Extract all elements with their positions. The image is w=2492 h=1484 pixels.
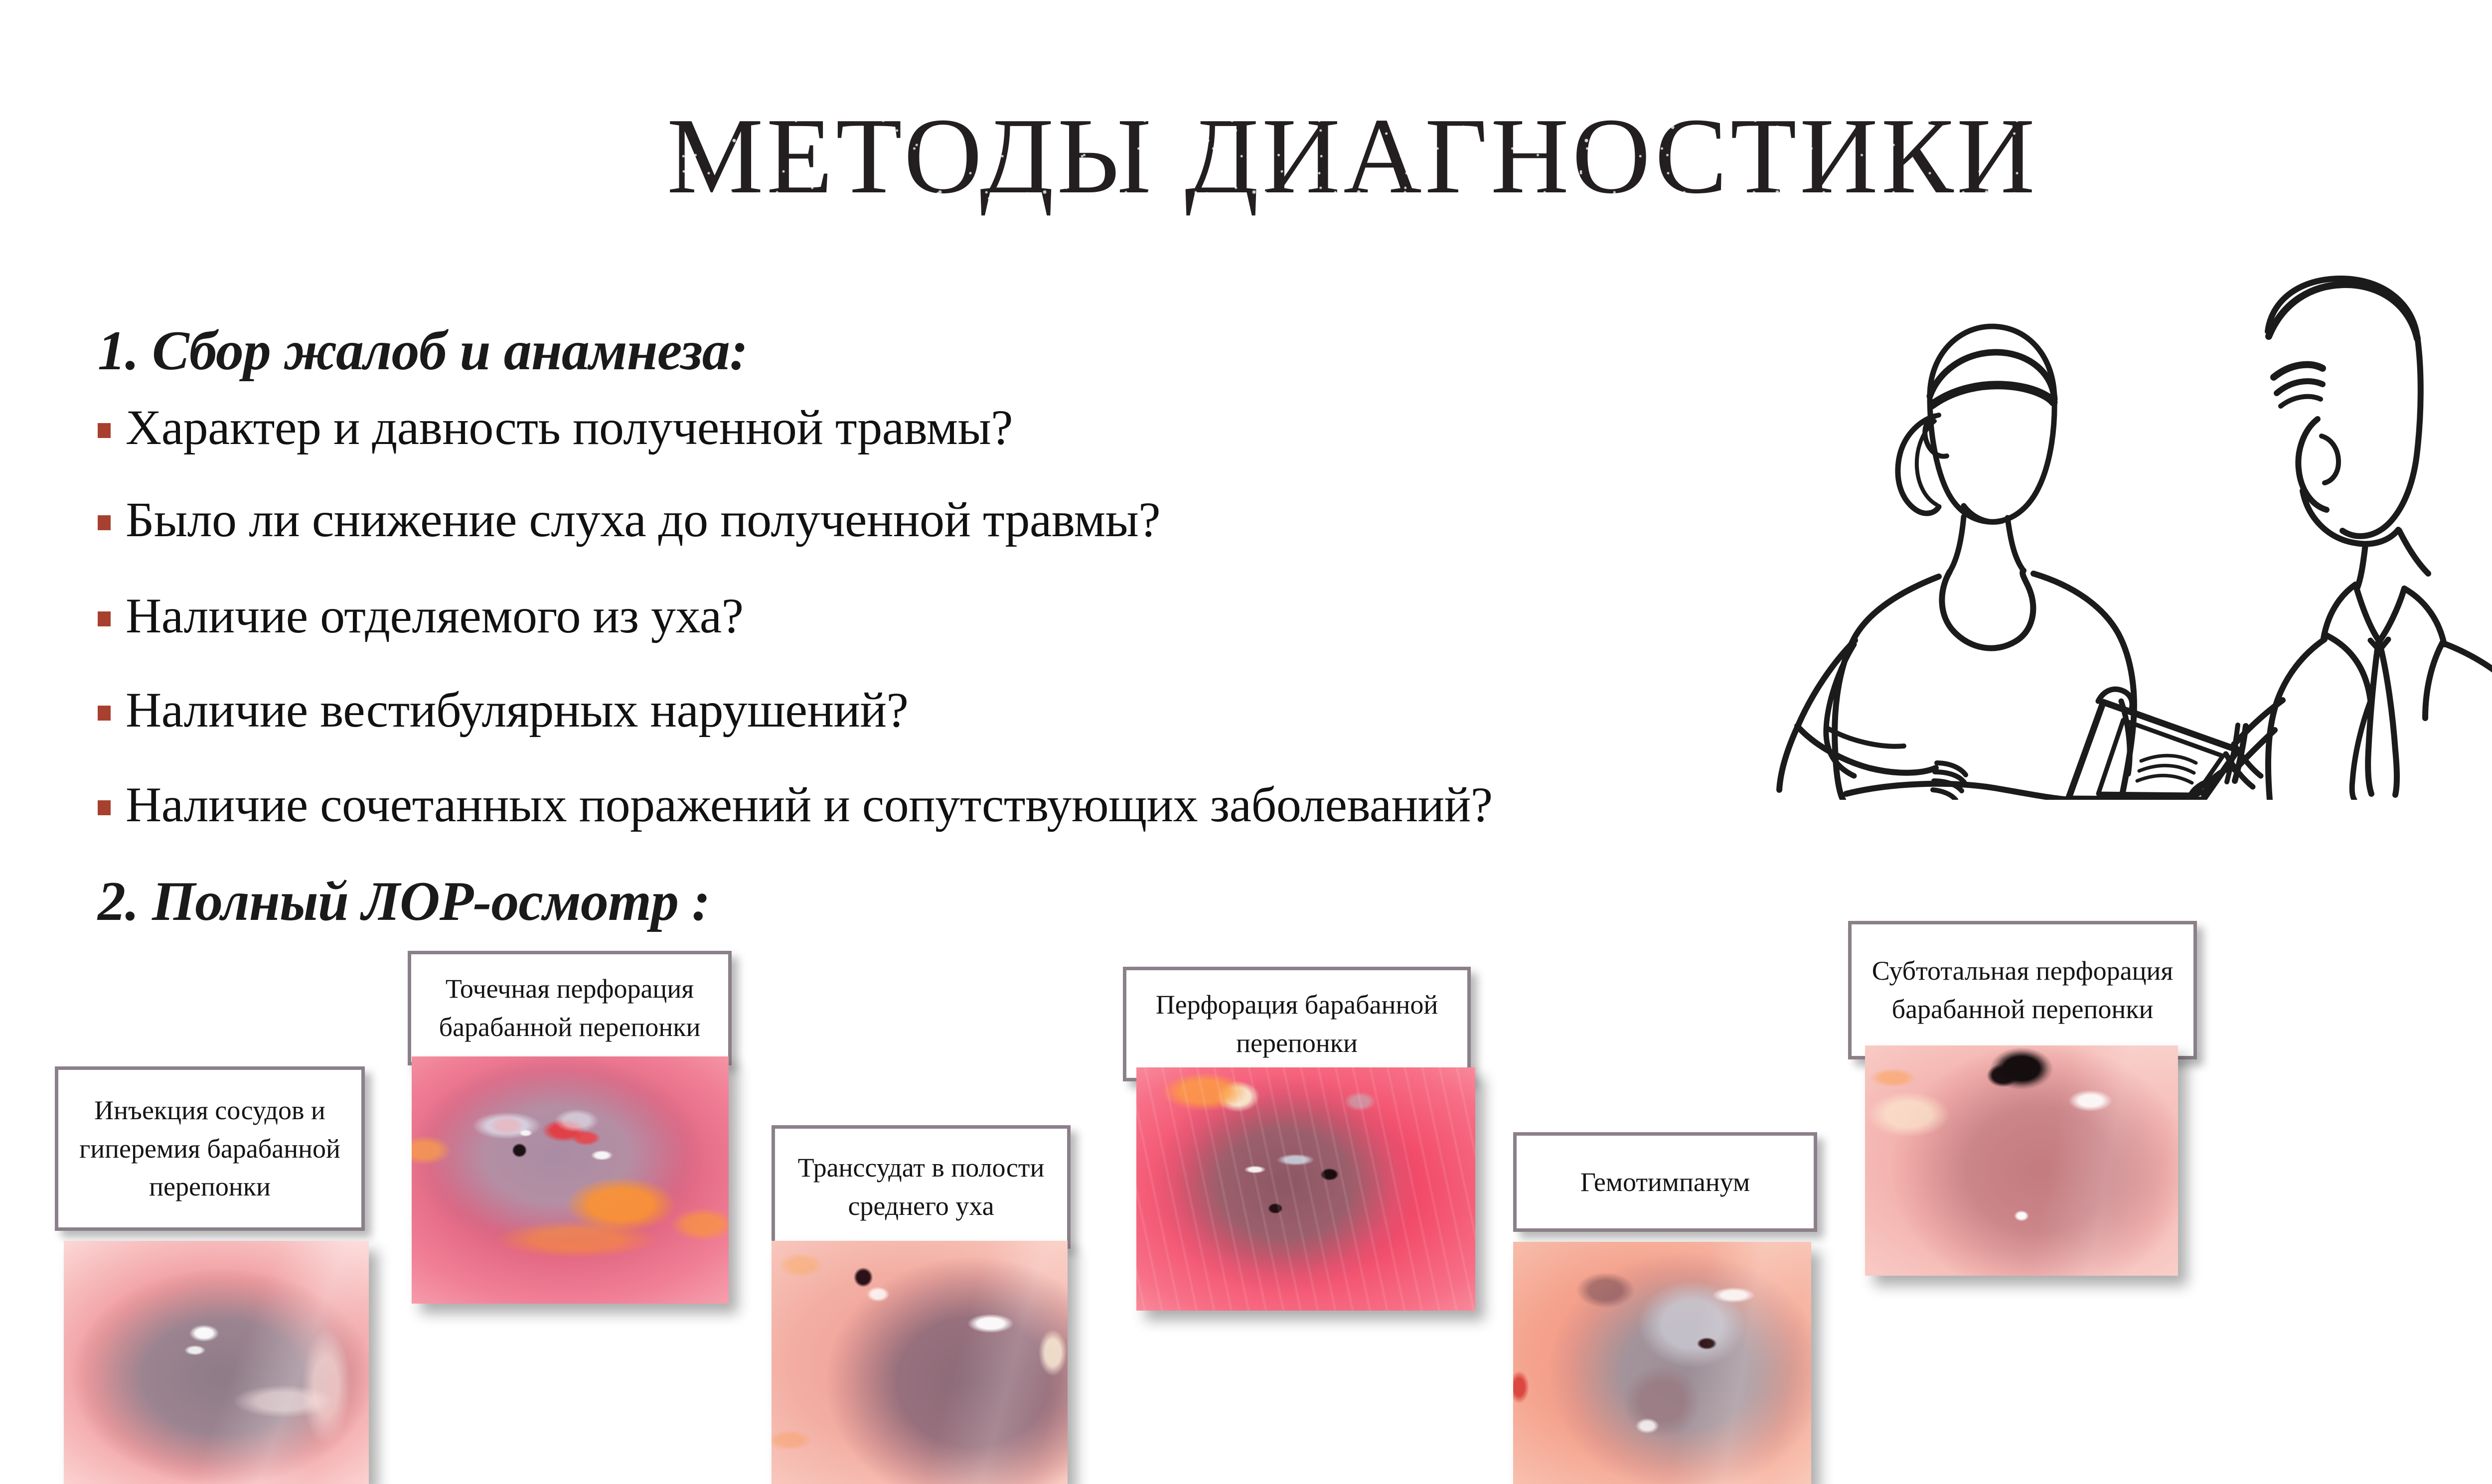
photo-caption-box: Транссудат в полости среднего уха: [772, 1125, 1071, 1249]
otoscopy-photo-subtotal-perforation: [1865, 1045, 2178, 1276]
section-heading-anamnesis: 1. Сбор жалоб и анамнеза:: [98, 319, 748, 383]
otoscopy-photo-transudate: [772, 1241, 1068, 1484]
bullet-label: Было ли снижение слуха до полученной тра…: [126, 493, 1160, 546]
list-item: Характер и давность полученной травмы?: [98, 401, 1013, 453]
bullet-square-icon: [98, 706, 111, 721]
bullet-square-icon: [98, 515, 111, 530]
page-title: МЕТОДЫ ДИАГНОСТИКИ: [0, 102, 2492, 211]
photo-caption-box: Гемотимпанум: [1513, 1132, 1817, 1232]
otoscopy-photo-perforation: [1136, 1067, 1475, 1311]
bullet-label: Наличие вестибулярных нарушений?: [126, 684, 908, 736]
list-item: Наличие отделяемого из уха?: [98, 590, 743, 642]
bullet-label: Наличие сочетанных поражений и сопутству…: [126, 778, 1493, 831]
photo-caption-label: Точечная перфорация барабанной перепонки: [419, 970, 720, 1046]
photo-caption-box: Инъекция сосудов и гиперемия барабанной …: [55, 1066, 365, 1231]
list-item: Наличие сочетанных поражений и сопутству…: [98, 778, 1493, 831]
bullet-square-icon: [98, 611, 111, 626]
bullet-label: Наличие отделяемого из уха?: [126, 590, 743, 642]
photo-caption-label: Гемотимпанум: [1580, 1163, 1750, 1201]
photo-caption-box: Перфорация барабанной перепонки: [1123, 967, 1471, 1081]
list-item: Наличие вестибулярных нарушений?: [98, 684, 908, 736]
bullet-label: Характер и давность полученной травмы?: [126, 401, 1013, 453]
bullet-square-icon: [98, 800, 111, 815]
photo-caption-box: Точечная перфорация барабанной перепонки: [408, 951, 732, 1065]
otoscopy-photo-hemotympanum: [1513, 1242, 1811, 1484]
photo-caption-box: Субтотальная перфорация барабанной переп…: [1848, 921, 2197, 1059]
bullet-square-icon: [98, 423, 111, 438]
list-item: Было ли снижение слуха до полученной тра…: [98, 493, 1160, 546]
otoscopy-photo-punctate-perforation: [412, 1056, 729, 1304]
photo-caption-label: Субтотальная перфорация барабанной переп…: [1860, 952, 2185, 1028]
photo-caption-label: Перфорация барабанной перепонки: [1134, 986, 1459, 1062]
doctor-and-patient-line-art-icon: [1705, 272, 2492, 800]
section-heading-ent-exam: 2. Полный ЛОР-осмотр :: [98, 870, 710, 934]
photo-caption-label: Транссудат в полости среднего уха: [783, 1149, 1059, 1225]
photo-caption-label: Инъекция сосудов и гиперемия барабанной …: [66, 1091, 353, 1206]
title-area: МЕТОДЫ ДИАГНОСТИКИ: [0, 0, 2492, 209]
otoscopy-photo-injection-hyperemia: [64, 1241, 369, 1484]
